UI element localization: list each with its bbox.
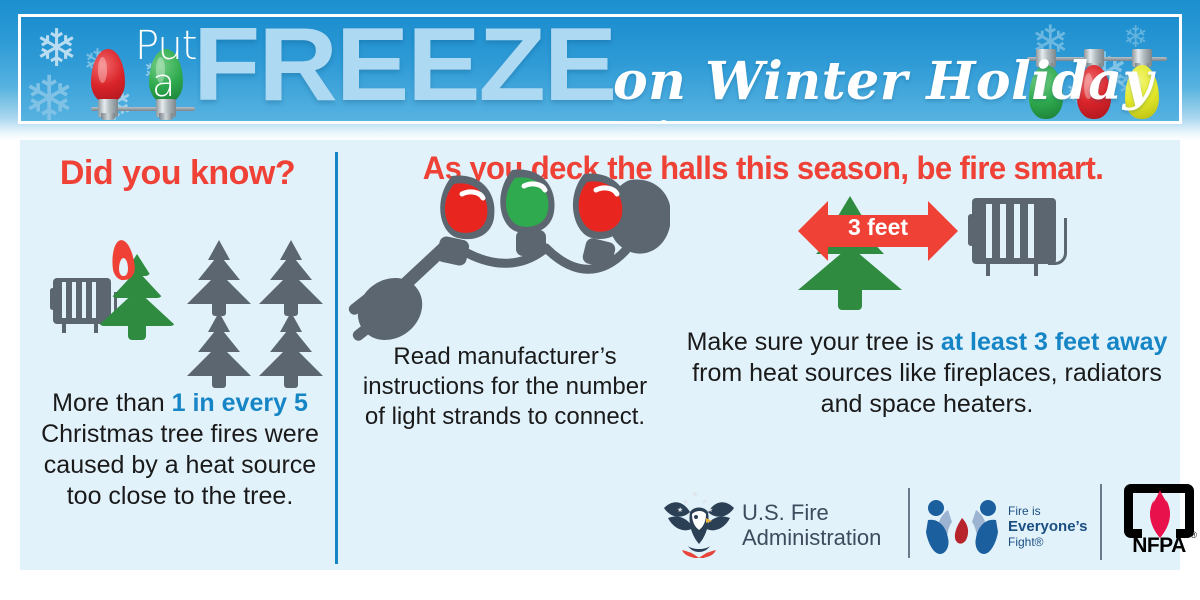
two-figures-flame-icon [922, 488, 1002, 558]
nfpa-logo[interactable]: NFPA ® [1120, 484, 1198, 564]
fief-line-2: Everyone’s [1008, 518, 1088, 535]
arrow-label: 3 feet [798, 214, 958, 241]
right-body-plain-2: from heat sources like fireplaces, radia… [692, 359, 1162, 418]
right-body-text: Make sure your tree is at least 3 feet a… [682, 327, 1172, 420]
gray-tree-icon [184, 306, 254, 396]
header-banner: ❄ ❄ ❄ ❄ ❄ ❄ ❄ ❄ ❄ ❄ [0, 0, 1200, 140]
logo-row: ★ ★ ★ ★ ★ U.S. Fire Administration [660, 474, 1180, 574]
svg-text:★: ★ [707, 506, 713, 514]
left-stat-text: More than 1 in every 5 Christmas tree fi… [24, 388, 336, 512]
nfpa-flame-icon [1146, 490, 1174, 538]
left-stat-plain-2: Christmas tree fires were caused by a he… [41, 420, 319, 510]
svg-text:★: ★ [682, 497, 689, 506]
header-inner-frame: ❄ ❄ ❄ ❄ ❄ ❄ ❄ ❄ ❄ ❄ [18, 14, 1182, 124]
christmas-light-strand-icon [340, 144, 670, 344]
middle-column: Read manufacturer’s instructions for the… [340, 144, 670, 570]
usfa-line-2: Administration [742, 525, 881, 550]
svg-text:★: ★ [677, 506, 683, 514]
fief-line-3: Fight® [1008, 535, 1088, 549]
middle-body-text: Read manufacturer’s instructions for the… [360, 342, 650, 432]
usfa-logo[interactable]: ★ ★ ★ ★ ★ U.S. Fire Administration [660, 480, 900, 568]
fief-wordmark: Fire is Everyone’s Fight® [1008, 504, 1088, 549]
fire-is-everyones-fight-logo[interactable]: Fire is Everyone’s Fight® [922, 484, 1102, 564]
left-stat-highlight: 1 in every 5 [172, 389, 308, 417]
nfpa-registered-mark: ® [1190, 530, 1197, 540]
space-heater-icon [968, 196, 1064, 280]
logo-separator [1100, 484, 1102, 560]
gray-tree-icon [256, 306, 326, 396]
nfpa-wordmark: NFPA [1120, 534, 1198, 558]
left-title: Did you know? [20, 154, 335, 193]
eagle-icon: ★ ★ ★ ★ ★ [660, 488, 738, 560]
svg-text:★: ★ [691, 490, 699, 500]
header-script-line: on Winter Holiday Fires [613, 51, 1179, 124]
usfa-line-1: U.S. Fire [742, 500, 881, 525]
distance-arrow: 3 feet [798, 201, 958, 261]
header-word-a: a [152, 61, 175, 105]
header-word-freeze: FREEZE [193, 14, 615, 117]
infographic-poster: ❄ ❄ ❄ ❄ ❄ ❄ ❄ ❄ ❄ ❄ [0, 0, 1200, 600]
usfa-wordmark: U.S. Fire Administration [742, 500, 881, 550]
left-column: Did you know? [20, 144, 335, 570]
right-body-highlight: at least 3 feet away [941, 328, 1168, 356]
logo-separator [908, 488, 910, 558]
snowflake-icon: ❄ [23, 69, 75, 124]
svg-text:★: ★ [701, 497, 708, 506]
left-stat-plain-1: More than [52, 389, 172, 417]
fief-line-1: Fire is [1008, 504, 1088, 518]
burning-tree-icon [92, 244, 182, 344]
right-body-plain-1: Make sure your tree is [687, 328, 941, 356]
